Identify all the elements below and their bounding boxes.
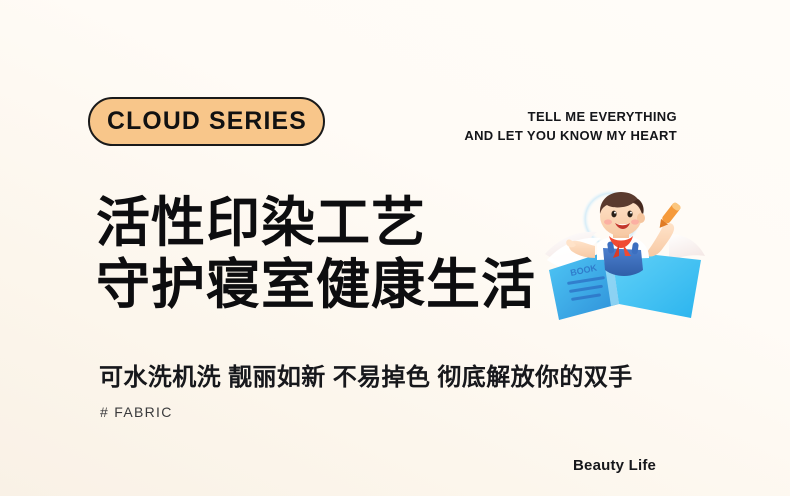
boy-eye-right-glint xyxy=(630,212,632,214)
boy-cheek-right xyxy=(631,219,639,224)
fabric-tag: # FABRIC xyxy=(100,404,173,420)
boy-reading-open-book-illustration: BOOK xyxy=(541,186,713,334)
headline: 活性印染工艺 守护寝室健康生活 xyxy=(96,192,536,316)
headline-line-2: 守护寝室健康生活 xyxy=(96,254,536,316)
tagline-line-1: TELL ME EVERYTHING xyxy=(347,108,677,127)
tagline: TELL ME EVERYTHING AND LET YOU KNOW MY H… xyxy=(347,108,677,146)
boy-eye-right xyxy=(627,211,632,218)
headline-line-1: 活性印染工艺 xyxy=(96,192,536,254)
brand-footer: Beauty Life xyxy=(573,457,656,474)
tagline-line-2: AND LET YOU KNOW MY HEART xyxy=(347,127,677,146)
subheadline: 可水洗机洗 靓丽如新 不易掉色 彻底解放你的双手 xyxy=(99,357,633,392)
boy-eye-left xyxy=(611,211,616,218)
promo-banner: CLOUD SERIES TELL ME EVERYTHING AND LET … xyxy=(0,0,790,496)
boy-cheek-left xyxy=(604,219,612,224)
series-badge-label: CLOUD SERIES xyxy=(107,109,307,134)
series-badge: CLOUD SERIES xyxy=(88,97,325,146)
boy-eye-left-glint xyxy=(614,212,616,214)
